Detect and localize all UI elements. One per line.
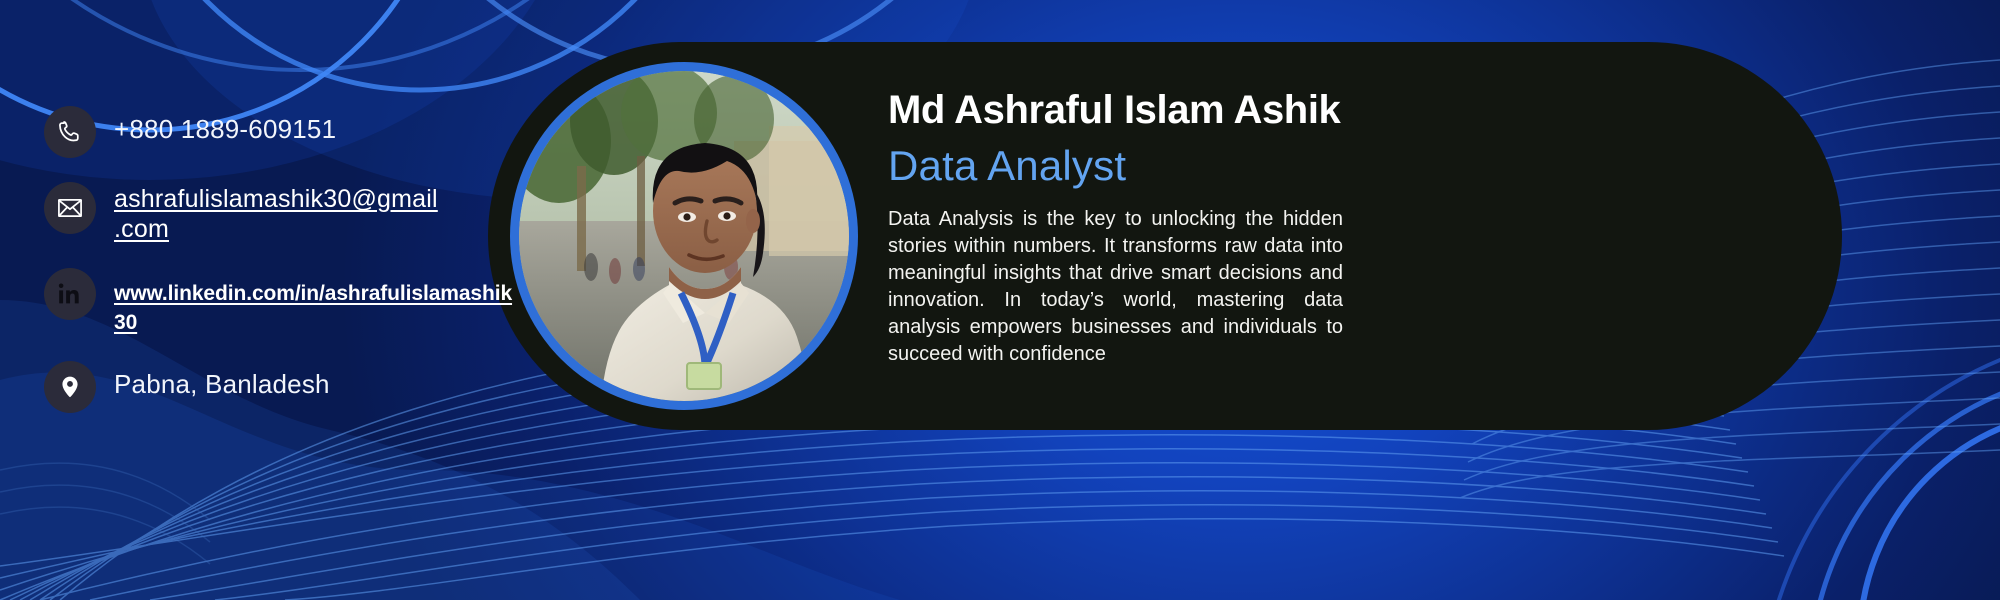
contact-row-phone[interactable]: +880 1889-609151 bbox=[44, 104, 514, 158]
linkedin-icon bbox=[44, 268, 96, 320]
contact-email-link[interactable]: ashrafulislamashik30@gmail.com bbox=[114, 185, 438, 243]
profile-details: Md Ashraful Islam Ashik Data Analyst Dat… bbox=[888, 86, 1388, 368]
contact-location-value: Pabna, Banladesh bbox=[114, 359, 330, 399]
contact-row-linkedin[interactable]: www.linkedin.com/in/ashrafulislamashik30 bbox=[44, 266, 514, 337]
profile-bio: Data Analysis is the key to unlocking th… bbox=[888, 206, 1343, 368]
phone-icon bbox=[44, 106, 96, 158]
envelope-icon bbox=[44, 182, 96, 234]
profile-card: Md Ashraful Islam Ashik Data Analyst Dat… bbox=[488, 42, 1842, 430]
page-title: Md Ashraful Islam Ashik bbox=[888, 86, 1388, 134]
profile-banner: +880 1889-609151 ashrafulislamashik30@gm… bbox=[0, 0, 2000, 600]
avatar-ring bbox=[510, 62, 858, 410]
contact-email-value: ashrafulislamashik30@gmail.com bbox=[114, 180, 444, 244]
contact-phone-value: +880 1889-609151 bbox=[114, 104, 336, 144]
profile-role: Data Analyst bbox=[888, 140, 1388, 192]
location-pin-icon bbox=[44, 361, 96, 413]
contact-row-email[interactable]: ashrafulislamashik30@gmail.com bbox=[44, 180, 514, 244]
contact-linkedin-value: www.linkedin.com/in/ashrafulislamashik30 bbox=[114, 266, 514, 337]
avatar bbox=[519, 71, 849, 401]
contact-linkedin-link[interactable]: www.linkedin.com/in/ashrafulislamashik30 bbox=[114, 282, 512, 334]
contact-list: +880 1889-609151 ashrafulislamashik30@gm… bbox=[44, 104, 514, 413]
contact-row-location[interactable]: Pabna, Banladesh bbox=[44, 359, 514, 413]
